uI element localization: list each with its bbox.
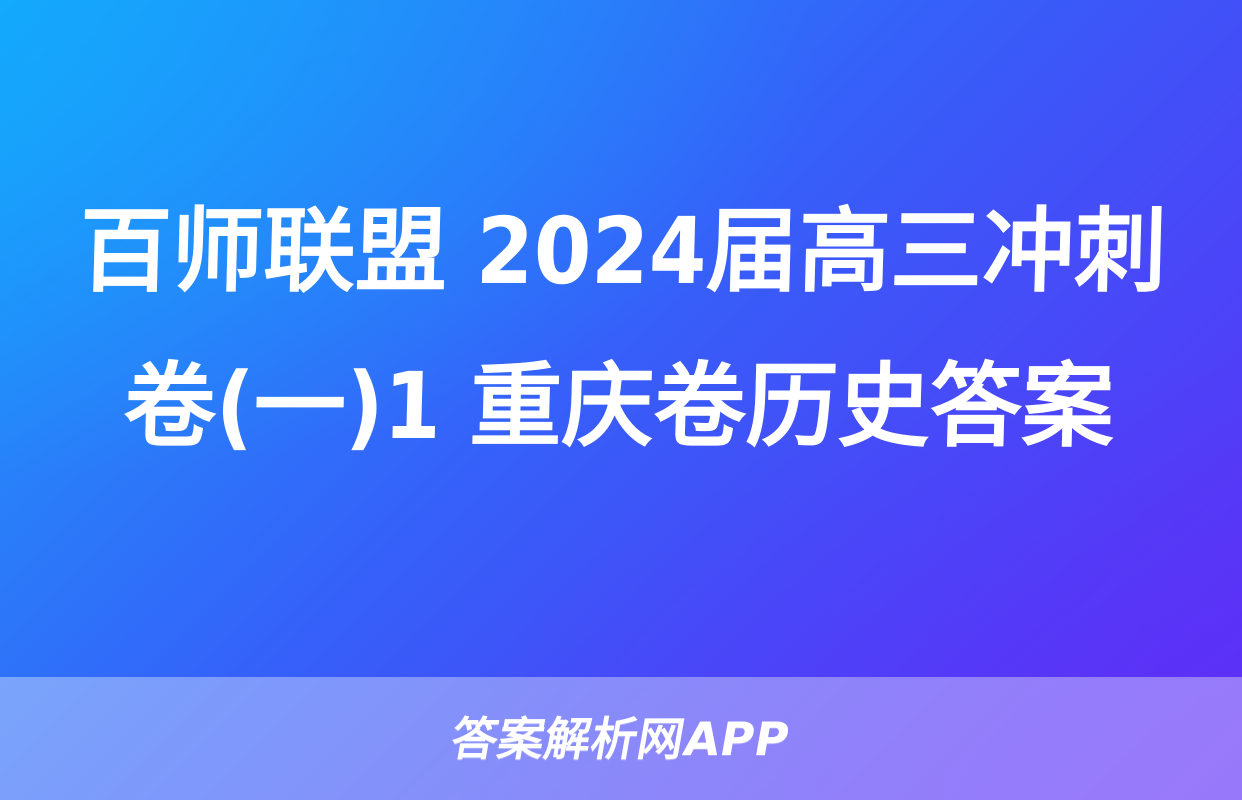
title-block: 百师联盟 2024届高三冲刺卷(一)1 重庆卷历史答案 (70, 174, 1172, 484)
poster-canvas: 百师联盟 2024届高三冲刺卷(一)1 重庆卷历史答案 答案解析网APP (0, 0, 1242, 800)
page-title: 百师联盟 2024届高三冲刺卷(一)1 重庆卷历史答案 (66, 174, 1176, 484)
watermark-band: 答案解析网APP (0, 677, 1242, 800)
watermark-label: 答案解析网APP (448, 716, 793, 762)
